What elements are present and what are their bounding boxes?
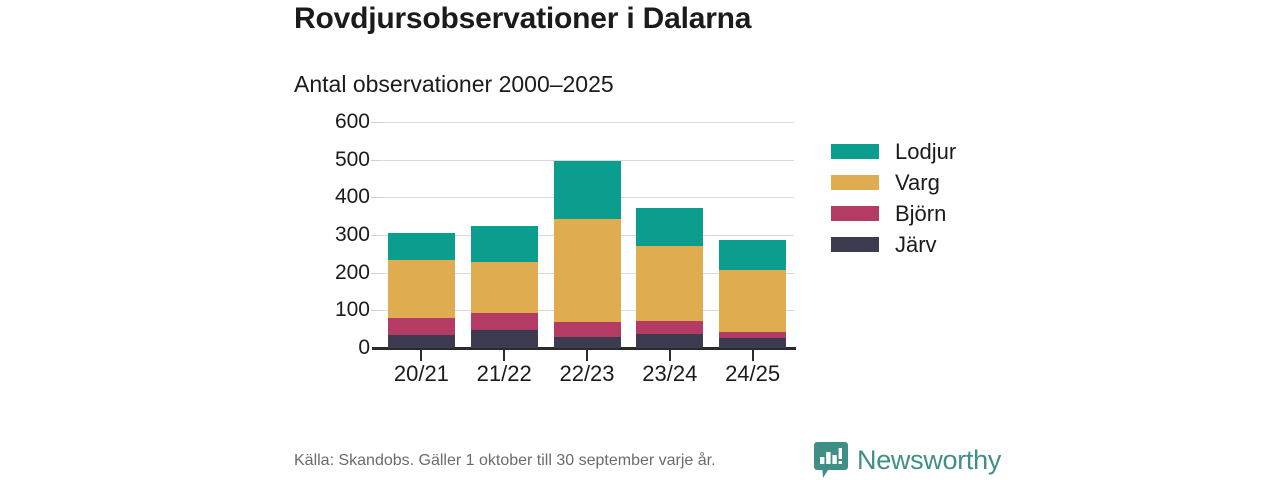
legend-label: Varg (895, 172, 940, 194)
bar-segment-björn[interactable] (554, 322, 621, 337)
bar-segment-lodjur[interactable] (388, 233, 455, 259)
source-note: Källa: Skandobs. Gäller 1 oktober till 3… (294, 452, 716, 470)
bar-segment-lodjur[interactable] (554, 161, 621, 219)
bar-segment-björn[interactable] (471, 313, 538, 330)
legend-label: Lodjur (895, 141, 956, 163)
legend-swatch (831, 175, 879, 190)
x-tick-mark (420, 350, 422, 361)
bars-layer: 20/2121/2222/2323/2424/25 (0, 0, 1280, 480)
bar-group[interactable] (719, 0, 786, 480)
bar-segment-varg[interactable] (554, 219, 621, 322)
bar-segment-lodjur[interactable] (719, 240, 786, 270)
legend-swatch (831, 237, 879, 252)
bar-group[interactable] (554, 0, 621, 480)
bar-group[interactable] (471, 0, 538, 480)
legend-label: Järv (895, 234, 937, 256)
x-tick-label: 24/25 (693, 361, 813, 387)
bar-stack (719, 240, 786, 348)
bar-stack (388, 233, 455, 348)
legend-item-björn[interactable]: Björn (831, 198, 956, 229)
chart-container: Rovdjursobservationer i Dalarna Antal ob… (0, 0, 1280, 480)
bar-segment-varg[interactable] (388, 260, 455, 318)
bar-stack (471, 226, 538, 348)
legend-item-varg[interactable]: Varg (831, 167, 956, 198)
bar-segment-järv[interactable] (388, 335, 455, 348)
legend-swatch (831, 144, 879, 159)
bar-segment-järv[interactable] (636, 334, 703, 348)
bar-group[interactable] (388, 0, 455, 480)
legend-item-lodjur[interactable]: Lodjur (831, 136, 956, 167)
x-tick-mark (586, 350, 588, 361)
legend-label: Björn (895, 203, 946, 225)
speech-bubble-chart-icon (814, 442, 848, 478)
x-tick-mark (669, 350, 671, 361)
bar-segment-björn[interactable] (636, 321, 703, 334)
bar-segment-varg[interactable] (719, 270, 786, 332)
bar-stack (554, 161, 621, 348)
newsworthy-logo[interactable]: Newsworthy (814, 442, 1001, 478)
bar-segment-järv[interactable] (471, 330, 538, 348)
bar-segment-lodjur[interactable] (471, 226, 538, 262)
legend-swatch (831, 206, 879, 221)
bar-segment-järv[interactable] (719, 338, 786, 348)
bar-stack (636, 208, 703, 348)
x-tick-mark (752, 350, 754, 361)
legend-item-järv[interactable]: Järv (831, 229, 956, 260)
bar-group[interactable] (636, 0, 703, 480)
bar-segment-järv[interactable] (554, 337, 621, 348)
bar-segment-lodjur[interactable] (636, 208, 703, 246)
bar-segment-björn[interactable] (388, 318, 455, 335)
chart-legend: LodjurVargBjörnJärv (831, 136, 956, 260)
bar-segment-varg[interactable] (636, 246, 703, 321)
newsworthy-wordmark: Newsworthy (857, 447, 1001, 474)
bar-segment-varg[interactable] (471, 262, 538, 313)
x-tick-mark (503, 350, 505, 361)
